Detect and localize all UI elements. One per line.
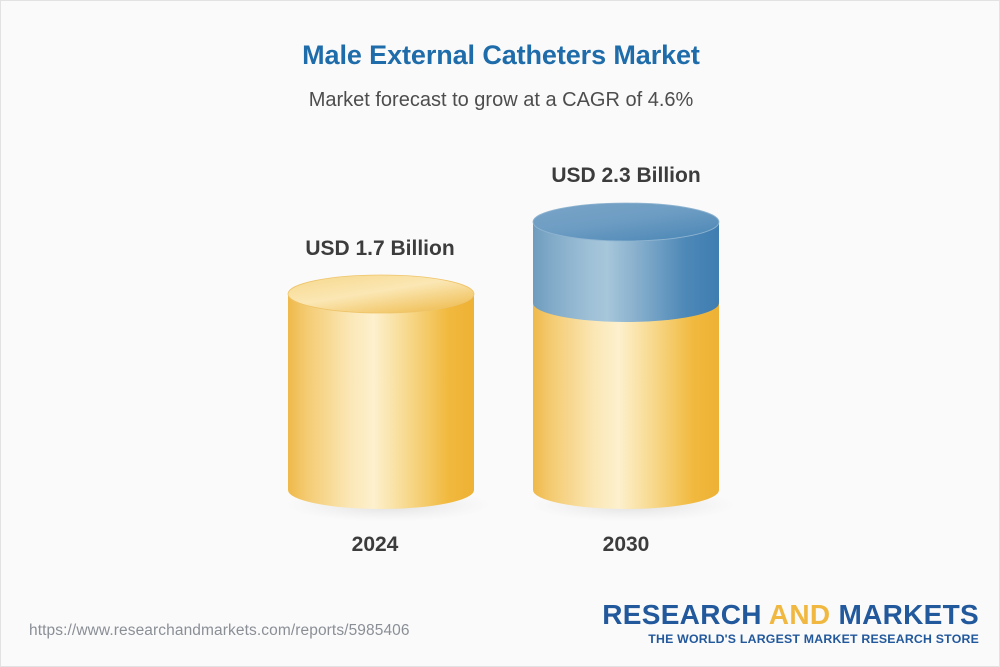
bar-cylinder-2024[interactable]: [287, 275, 475, 517]
logo-word-markets: MARKETS: [838, 599, 979, 630]
plot-area: USD 1.7 Billion: [1, 1, 1000, 601]
bar-value-label-2024: USD 1.7 Billion: [220, 237, 540, 261]
logo-word-research: RESEARCH: [602, 599, 762, 630]
bar-body-2024: [288, 294, 474, 509]
bar-top-2024: [288, 275, 474, 313]
logo-wordmark: RESEARCH AND MARKETS: [602, 601, 979, 630]
researchandmarkets-logo[interactable]: RESEARCH AND MARKETS THE WORLD'S LARGEST…: [602, 601, 979, 646]
source-url[interactable]: https://www.researchandmarkets.com/repor…: [29, 622, 410, 640]
bar-cylinder-2030[interactable]: [532, 200, 720, 517]
bar-value-label-2030: USD 2.3 Billion: [466, 164, 786, 188]
logo-tagline: THE WORLD'S LARGEST MARKET RESEARCH STOR…: [602, 632, 979, 646]
bar-segment-base-2030: [533, 303, 719, 509]
bar-top-2030: [533, 203, 719, 241]
bar-category-label-2030: 2030: [466, 533, 786, 557]
chart-canvas: Male External Catheters Market Market fo…: [0, 0, 1000, 667]
logo-word-and: AND: [762, 599, 839, 630]
